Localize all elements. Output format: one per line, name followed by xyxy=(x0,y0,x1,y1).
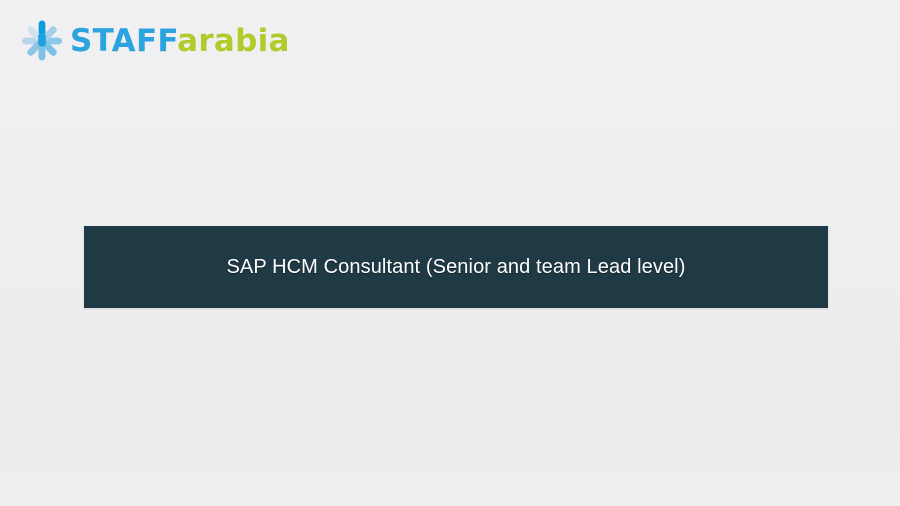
slide-canvas: STAFFarabia SAP HCM Consultant (Senior a… xyxy=(0,0,900,506)
snowflake-asterisk-icon xyxy=(20,19,64,63)
staffarabia-logo[interactable]: STAFFarabia xyxy=(20,18,290,64)
job-title-banner: SAP HCM Consultant (Senior and team Lead… xyxy=(84,226,828,308)
logo-wordmark-arabia: arabia xyxy=(177,23,290,59)
logo-wordmark-staff: STAFF xyxy=(70,23,177,59)
job-title-text: SAP HCM Consultant (Senior and team Lead… xyxy=(226,255,685,279)
logo-wordmark: STAFFarabia xyxy=(70,26,290,57)
